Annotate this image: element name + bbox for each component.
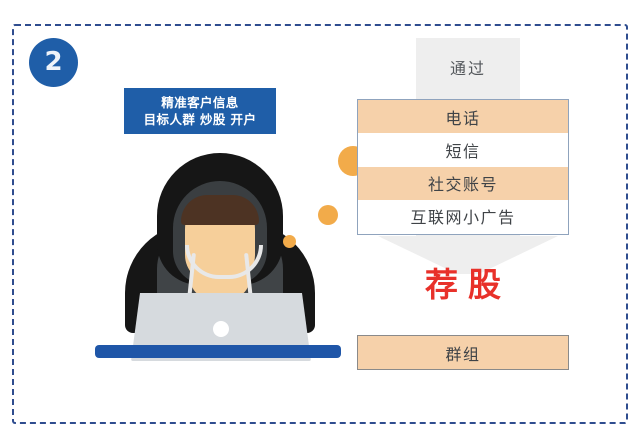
table-row: 社交账号	[358, 167, 568, 200]
table-row: 互联网小广告	[358, 200, 568, 233]
caption-line-1: 精准客户信息	[161, 95, 238, 111]
table-row: 短信	[358, 133, 568, 166]
table-row: 电话	[358, 100, 568, 133]
hooded-hacker-illustration	[95, 145, 345, 360]
caption-line-2: 目标人群 炒股 开户	[144, 112, 257, 128]
via-label: 通过	[416, 55, 520, 79]
group-box: 群组	[357, 335, 569, 370]
eye-shadow-band	[181, 195, 259, 225]
channel-table: 电话 短信 社交账号 互联网小广告	[357, 99, 569, 235]
orange-dot-small-icon	[283, 235, 296, 248]
desk-bar	[95, 345, 341, 358]
orange-dot-medium-icon	[318, 205, 338, 225]
infographic-canvas: 2 精准客户信息 目标人群 炒股 开户 通过 电话 短信 社交账号 互联网小广告…	[0, 0, 640, 434]
laptop-logo-dot	[213, 321, 229, 337]
step-number-text: 2	[44, 49, 62, 75]
result-headline: 荐股	[357, 268, 569, 301]
step-number-badge: 2	[29, 38, 78, 87]
target-customer-caption-box: 精准客户信息 目标人群 炒股 开户	[124, 88, 276, 134]
